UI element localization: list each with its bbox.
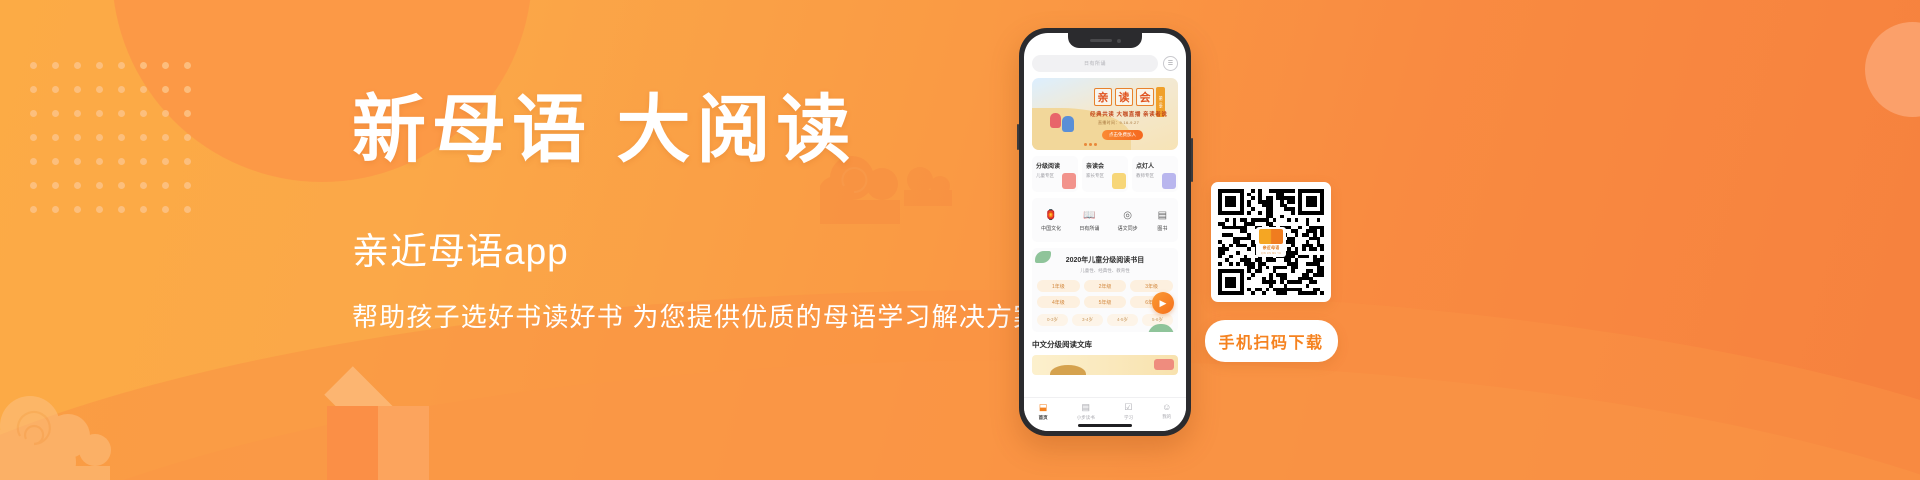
decor-dot [74, 206, 81, 213]
grade-pill[interactable]: 5年级 [1084, 296, 1127, 308]
section-cards: 分级阅读 儿童专区 亲读会 家长专区 点灯人 教师专区 [1032, 156, 1178, 192]
decor-dot [118, 206, 125, 213]
card-art [1162, 173, 1176, 189]
promo-join-button[interactable]: 点击免费加入 [1102, 130, 1143, 140]
category-chinese-culture[interactable]: 🏮 中国文化 [1041, 209, 1061, 232]
reading-icon: ▤ [1082, 402, 1091, 413]
booklist-title: 2020年儿童分级阅读书目 [1037, 255, 1173, 265]
search-input[interactable]: 日有所诵 [1032, 55, 1158, 72]
decor-dot [162, 182, 169, 189]
category-label: 日有所诵 [1079, 225, 1099, 232]
card-art [1112, 173, 1126, 189]
brand-book-icon [1259, 229, 1283, 244]
category-label: 语文同步 [1118, 225, 1138, 232]
banner-copy: 新母语 大阅读 亲近母语app 帮助孩子选好书读好书 为您提供优质的母语学习解决… [352, 92, 1012, 335]
library-banner[interactable] [1032, 355, 1178, 375]
decor-dot [140, 86, 147, 93]
decor-dot [74, 86, 81, 93]
book-open-icon: 📖 [1083, 209, 1096, 222]
card-art [1062, 173, 1076, 189]
decor-dot [52, 134, 59, 141]
age-pill[interactable]: 4-5岁 [1107, 314, 1138, 326]
decor-dot [162, 62, 169, 69]
decor-dot [30, 134, 37, 141]
qr-center-logo: 亲近母语 QIN JIN MU YU [1256, 227, 1286, 257]
phone-mockup: 日有所诵 ☰ 亲 读 会 第三季 经典共读 大咖直播 亲读者说 直播时间：9.1… [1019, 28, 1191, 436]
qr-logo-name: 亲近母语 [1263, 245, 1280, 251]
promo-char-2: 读 [1115, 88, 1133, 106]
promo-date: 直播时间：9.16-9.27 [1098, 120, 1139, 126]
app-name: 亲近母语app [352, 230, 1012, 274]
decor-hill-back [0, 360, 1920, 480]
phone-notch [1068, 33, 1142, 48]
promo-char-1: 亲 [1094, 88, 1112, 106]
qr-code[interactable]: 亲近母语 QIN JIN MU YU [1211, 182, 1331, 302]
grade-pill[interactable]: 3年级 [1130, 280, 1173, 292]
decor-dot [184, 158, 191, 165]
decor-dot [96, 110, 103, 117]
book-icon: ▤ [1156, 209, 1169, 222]
decor-dot [52, 158, 59, 165]
decor-dot [74, 62, 81, 69]
speaker-icon [1090, 39, 1112, 42]
tab-mine[interactable]: ☺ 我的 [1162, 402, 1171, 420]
decor-dot [96, 182, 103, 189]
booklist-card: 2020年儿童分级阅读书目 儿童性、经典性、教育性 1年级 2年级 3年级 4年… [1032, 248, 1178, 332]
decor-dot [96, 134, 103, 141]
decor-circle-top-right [1865, 22, 1920, 117]
decor-dot [184, 110, 191, 117]
decor-dot [52, 62, 59, 69]
promo-banner: 新母语 大阅读 亲近母语app 帮助孩子选好书读好书 为您提供优质的母语学习解决… [0, 0, 1920, 480]
sync-icon: ◎ [1121, 209, 1134, 222]
decor-dot [118, 158, 125, 165]
decor-dot [30, 182, 37, 189]
home-indicator [1078, 424, 1132, 427]
grade-pill[interactable]: 4年级 [1037, 296, 1080, 308]
decor-dot [118, 62, 125, 69]
decor-dot [30, 110, 37, 117]
decor-dot [162, 134, 169, 141]
download-button[interactable]: 手机扫码下载 [1205, 320, 1338, 362]
decor-dot [30, 158, 37, 165]
tab-label: 学习 [1124, 415, 1133, 421]
decor-dot [52, 182, 59, 189]
message-icon[interactable]: ☰ [1163, 56, 1178, 71]
decor-dot [140, 182, 147, 189]
decor-dot [30, 86, 37, 93]
decor-dot [96, 86, 103, 93]
decor-dot [140, 110, 147, 117]
decor-dot [96, 62, 103, 69]
user-icon: ☺ [1162, 402, 1171, 412]
decor-dot [30, 206, 37, 213]
tab-label: 我的 [1162, 414, 1171, 420]
decor-dot [184, 182, 191, 189]
decor-dot [140, 158, 147, 165]
decor-dot [118, 134, 125, 141]
tab-study[interactable]: ☑ 学习 [1124, 402, 1133, 421]
promo-card[interactable]: 亲 读 会 第三季 经典共读 大咖直播 亲读者说 直播时间：9.16-9.27 … [1032, 78, 1178, 150]
age-pills: 0-3岁 3-4岁 4-5岁 5-6岁 [1037, 314, 1173, 326]
category-label: 中国文化 [1041, 225, 1061, 232]
tab-home[interactable]: ⬓ 首页 [1039, 402, 1048, 421]
clipboard-icon: ☑ [1124, 402, 1132, 413]
decor-dot [30, 62, 37, 69]
decor-dot [118, 182, 125, 189]
grade-pill[interactable]: 2年级 [1084, 280, 1127, 292]
decor-dot [74, 134, 81, 141]
category-books[interactable]: ▤ 图书 [1156, 209, 1169, 232]
camera-icon [1117, 39, 1121, 43]
category-daily-recite[interactable]: 📖 日有所诵 [1079, 209, 1099, 232]
card-title: 点灯人 [1136, 161, 1174, 170]
promo-title: 亲 读 会 [1094, 88, 1154, 106]
qr-module [1320, 291, 1324, 295]
decor-dot [184, 86, 191, 93]
qr-logo-sub: QIN JIN MU YU [1261, 252, 1281, 255]
decor-dot [184, 134, 191, 141]
promo-carousel-dots[interactable] [1084, 143, 1097, 146]
decor-dot [162, 86, 169, 93]
decor-dot [74, 182, 81, 189]
card-title: 分级阅读 [1036, 161, 1074, 170]
age-pill[interactable]: 0-3岁 [1037, 314, 1068, 326]
cloud-swirl-icon [0, 384, 180, 480]
decor-dot [52, 86, 59, 93]
decor-dot [118, 110, 125, 117]
decor-dot [96, 158, 103, 165]
decor-dot [162, 206, 169, 213]
banner-tagline: 帮助孩子选好书读好书 为您提供优质的母语学习解决方案 [352, 300, 1012, 335]
grade-pill[interactable]: 1年级 [1037, 280, 1080, 292]
card-graded-reading[interactable]: 分级阅读 儿童专区 [1032, 156, 1078, 192]
card-teacher-zone[interactable]: 点灯人 教师专区 [1132, 156, 1178, 192]
tab-label: 小步读书 [1077, 415, 1095, 421]
tab-reading[interactable]: ▤ 小步读书 [1077, 402, 1095, 421]
decor-dot [184, 206, 191, 213]
download-block: 亲近母语 QIN JIN MU YU 手机扫码下载 [1211, 182, 1331, 362]
tab-label: 首页 [1039, 415, 1048, 421]
phone-screen: 日有所诵 ☰ 亲 读 会 第三季 经典共读 大咖直播 亲读者说 直播时间：9.1… [1024, 33, 1186, 431]
decor-dot [184, 62, 191, 69]
library-title: 中文分级阅读文库 [1032, 339, 1178, 350]
decor-dot [162, 158, 169, 165]
decor-dot [140, 206, 147, 213]
category-sync-chinese[interactable]: ◎ 语文同步 [1118, 209, 1138, 232]
decor-dot [52, 110, 59, 117]
scroll-icon: 🏮 [1045, 209, 1058, 222]
decor-dot [162, 110, 169, 117]
card-parent-reading[interactable]: 亲读会 家长专区 [1082, 156, 1128, 192]
page-title: 新母语 大阅读 [352, 92, 1012, 172]
decor-dot-grid [30, 62, 206, 230]
app-search-bar: 日有所诵 ☰ [1032, 55, 1178, 72]
decor-dot [74, 110, 81, 117]
category-row: 🏮 中国文化 📖 日有所诵 ◎ 语文同步 ▤ 图书 [1032, 198, 1178, 242]
card-title: 亲读会 [1086, 161, 1124, 170]
promo-child-red [1050, 113, 1061, 128]
decor-dot [140, 62, 147, 69]
decor-dot [74, 158, 81, 165]
promo-child-blue [1062, 116, 1074, 132]
promo-subtitle: 经典共读 大咖直播 亲读者说 [1090, 110, 1167, 118]
isometric-cube-icon [308, 370, 448, 480]
video-play-icon[interactable]: ▶ [1152, 292, 1174, 314]
age-pill[interactable]: 3-4岁 [1072, 314, 1103, 326]
decor-dot [140, 134, 147, 141]
decor-dot [96, 206, 103, 213]
home-icon: ⬓ [1039, 402, 1048, 413]
booklist-subtitle: 儿童性、经典性、教育性 [1037, 268, 1173, 274]
decor-dot [52, 206, 59, 213]
category-label: 图书 [1157, 225, 1167, 232]
promo-char-3: 会 [1136, 88, 1154, 106]
decor-dot [118, 86, 125, 93]
